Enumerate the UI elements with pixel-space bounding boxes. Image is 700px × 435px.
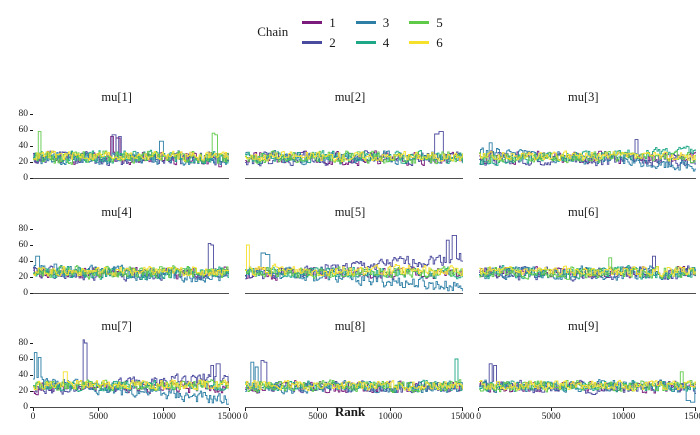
facet-mu2: mu[2] <box>233 88 466 203</box>
plot-area[interactable] <box>33 225 229 293</box>
plot-area[interactable] <box>33 110 229 178</box>
x-axis-label: Rank <box>0 404 700 420</box>
y-tick-label: 80 <box>19 338 29 348</box>
legend-item-chain-1[interactable]: 1 <box>302 12 336 32</box>
y-tick-label: 40 <box>19 141 29 151</box>
chain-legend: Chain 135246 <box>0 12 700 52</box>
chain-line-5 <box>245 266 462 277</box>
legend-key-icon <box>302 41 322 44</box>
y-tick-label: 40 <box>19 370 29 380</box>
x-axis-line <box>479 293 696 294</box>
y-tick-label: 0 <box>23 173 28 183</box>
facet-title: mu[7] <box>0 319 233 334</box>
panel-wrap <box>467 110 696 203</box>
legend-item-chain-5[interactable]: 5 <box>409 12 443 32</box>
panel-wrap <box>467 225 696 318</box>
legend-title: Chain <box>257 24 292 40</box>
panel-wrap: 020406080 <box>0 225 229 318</box>
facet-title: mu[4] <box>0 205 233 220</box>
facet-mu3: mu[3] <box>467 88 700 203</box>
plot-canvas: Chain 135246 mu[1]020406080mu[2]mu[3]mu[… <box>0 0 700 432</box>
legend-key-icon <box>409 21 429 24</box>
legend-key-icon <box>409 41 429 44</box>
plot-column <box>33 110 229 203</box>
legend-item-chain-6[interactable]: 6 <box>409 32 443 52</box>
plot-column <box>33 225 229 318</box>
y-axis: 020406080 <box>0 225 33 318</box>
x-axis-line <box>33 178 229 179</box>
y-tick-label: 20 <box>19 157 29 167</box>
y-axis <box>467 110 479 203</box>
legend-key-icon <box>302 21 322 24</box>
plot-column <box>245 110 462 203</box>
y-tick-label: 20 <box>19 272 29 282</box>
x-axis-line <box>245 178 462 179</box>
legend-item-label: 3 <box>383 16 390 29</box>
panel-wrap: 020406080 <box>0 110 229 203</box>
y-axis <box>233 225 245 318</box>
legend-item-chain-2[interactable]: 2 <box>302 32 336 52</box>
facet-mu6: mu[6] <box>467 203 700 318</box>
panel-wrap <box>233 110 462 203</box>
legend-key-icon <box>356 21 376 24</box>
facet-title: mu[2] <box>233 90 466 105</box>
y-tick-label: 80 <box>19 109 29 119</box>
plot-column <box>479 225 696 318</box>
legend-item-label: 4 <box>383 36 390 49</box>
facet-mu1: mu[1]020406080 <box>0 88 233 203</box>
y-tick-label: 60 <box>19 240 29 250</box>
chain-line-2 <box>479 364 696 395</box>
x-axis-line <box>33 293 229 294</box>
plot-area[interactable] <box>245 225 462 293</box>
y-tick-label: 20 <box>19 386 29 396</box>
x-axis-line <box>245 293 462 294</box>
legend-item-label: 5 <box>436 16 443 29</box>
facet-mu5: mu[5] <box>233 203 466 318</box>
plot-column <box>479 110 696 203</box>
facet-title: mu[9] <box>467 319 700 334</box>
legend-item-chain-4[interactable]: 4 <box>356 32 390 52</box>
plot-area[interactable] <box>479 339 696 407</box>
y-tick-label: 80 <box>19 224 29 234</box>
legend-key-icon <box>356 41 376 44</box>
facet-title: mu[5] <box>233 205 466 220</box>
legend-item-chain-3[interactable]: 3 <box>356 12 390 32</box>
plot-column <box>245 225 462 318</box>
plot-area[interactable] <box>479 225 696 293</box>
plot-area[interactable] <box>245 339 462 407</box>
facet-mu4: mu[4]020406080 <box>0 203 233 318</box>
facet-title: mu[6] <box>467 205 700 220</box>
y-tick-label: 40 <box>19 256 29 266</box>
legend-item-label: 1 <box>329 16 336 29</box>
plot-area[interactable] <box>245 110 462 178</box>
facet-title: mu[3] <box>467 90 700 105</box>
legend-item-label: 2 <box>329 36 336 49</box>
legend-item-label: 6 <box>436 36 443 49</box>
y-tick-label: 60 <box>19 125 29 135</box>
facet-title: mu[1] <box>0 90 233 105</box>
panel-wrap <box>233 225 462 318</box>
y-axis: 020406080 <box>0 110 33 203</box>
y-tick-label: 0 <box>23 288 28 298</box>
y-tick-label: 60 <box>19 354 29 364</box>
legend-items: 135246 <box>302 12 443 52</box>
facet-grid: mu[1]020406080mu[2]mu[3]mu[4]020406080mu… <box>0 88 700 432</box>
plot-area[interactable] <box>33 339 229 407</box>
facet-title: mu[8] <box>233 319 466 334</box>
y-axis <box>467 225 479 318</box>
plot-area[interactable] <box>479 110 696 178</box>
y-axis <box>233 110 245 203</box>
x-axis-line <box>479 178 696 179</box>
